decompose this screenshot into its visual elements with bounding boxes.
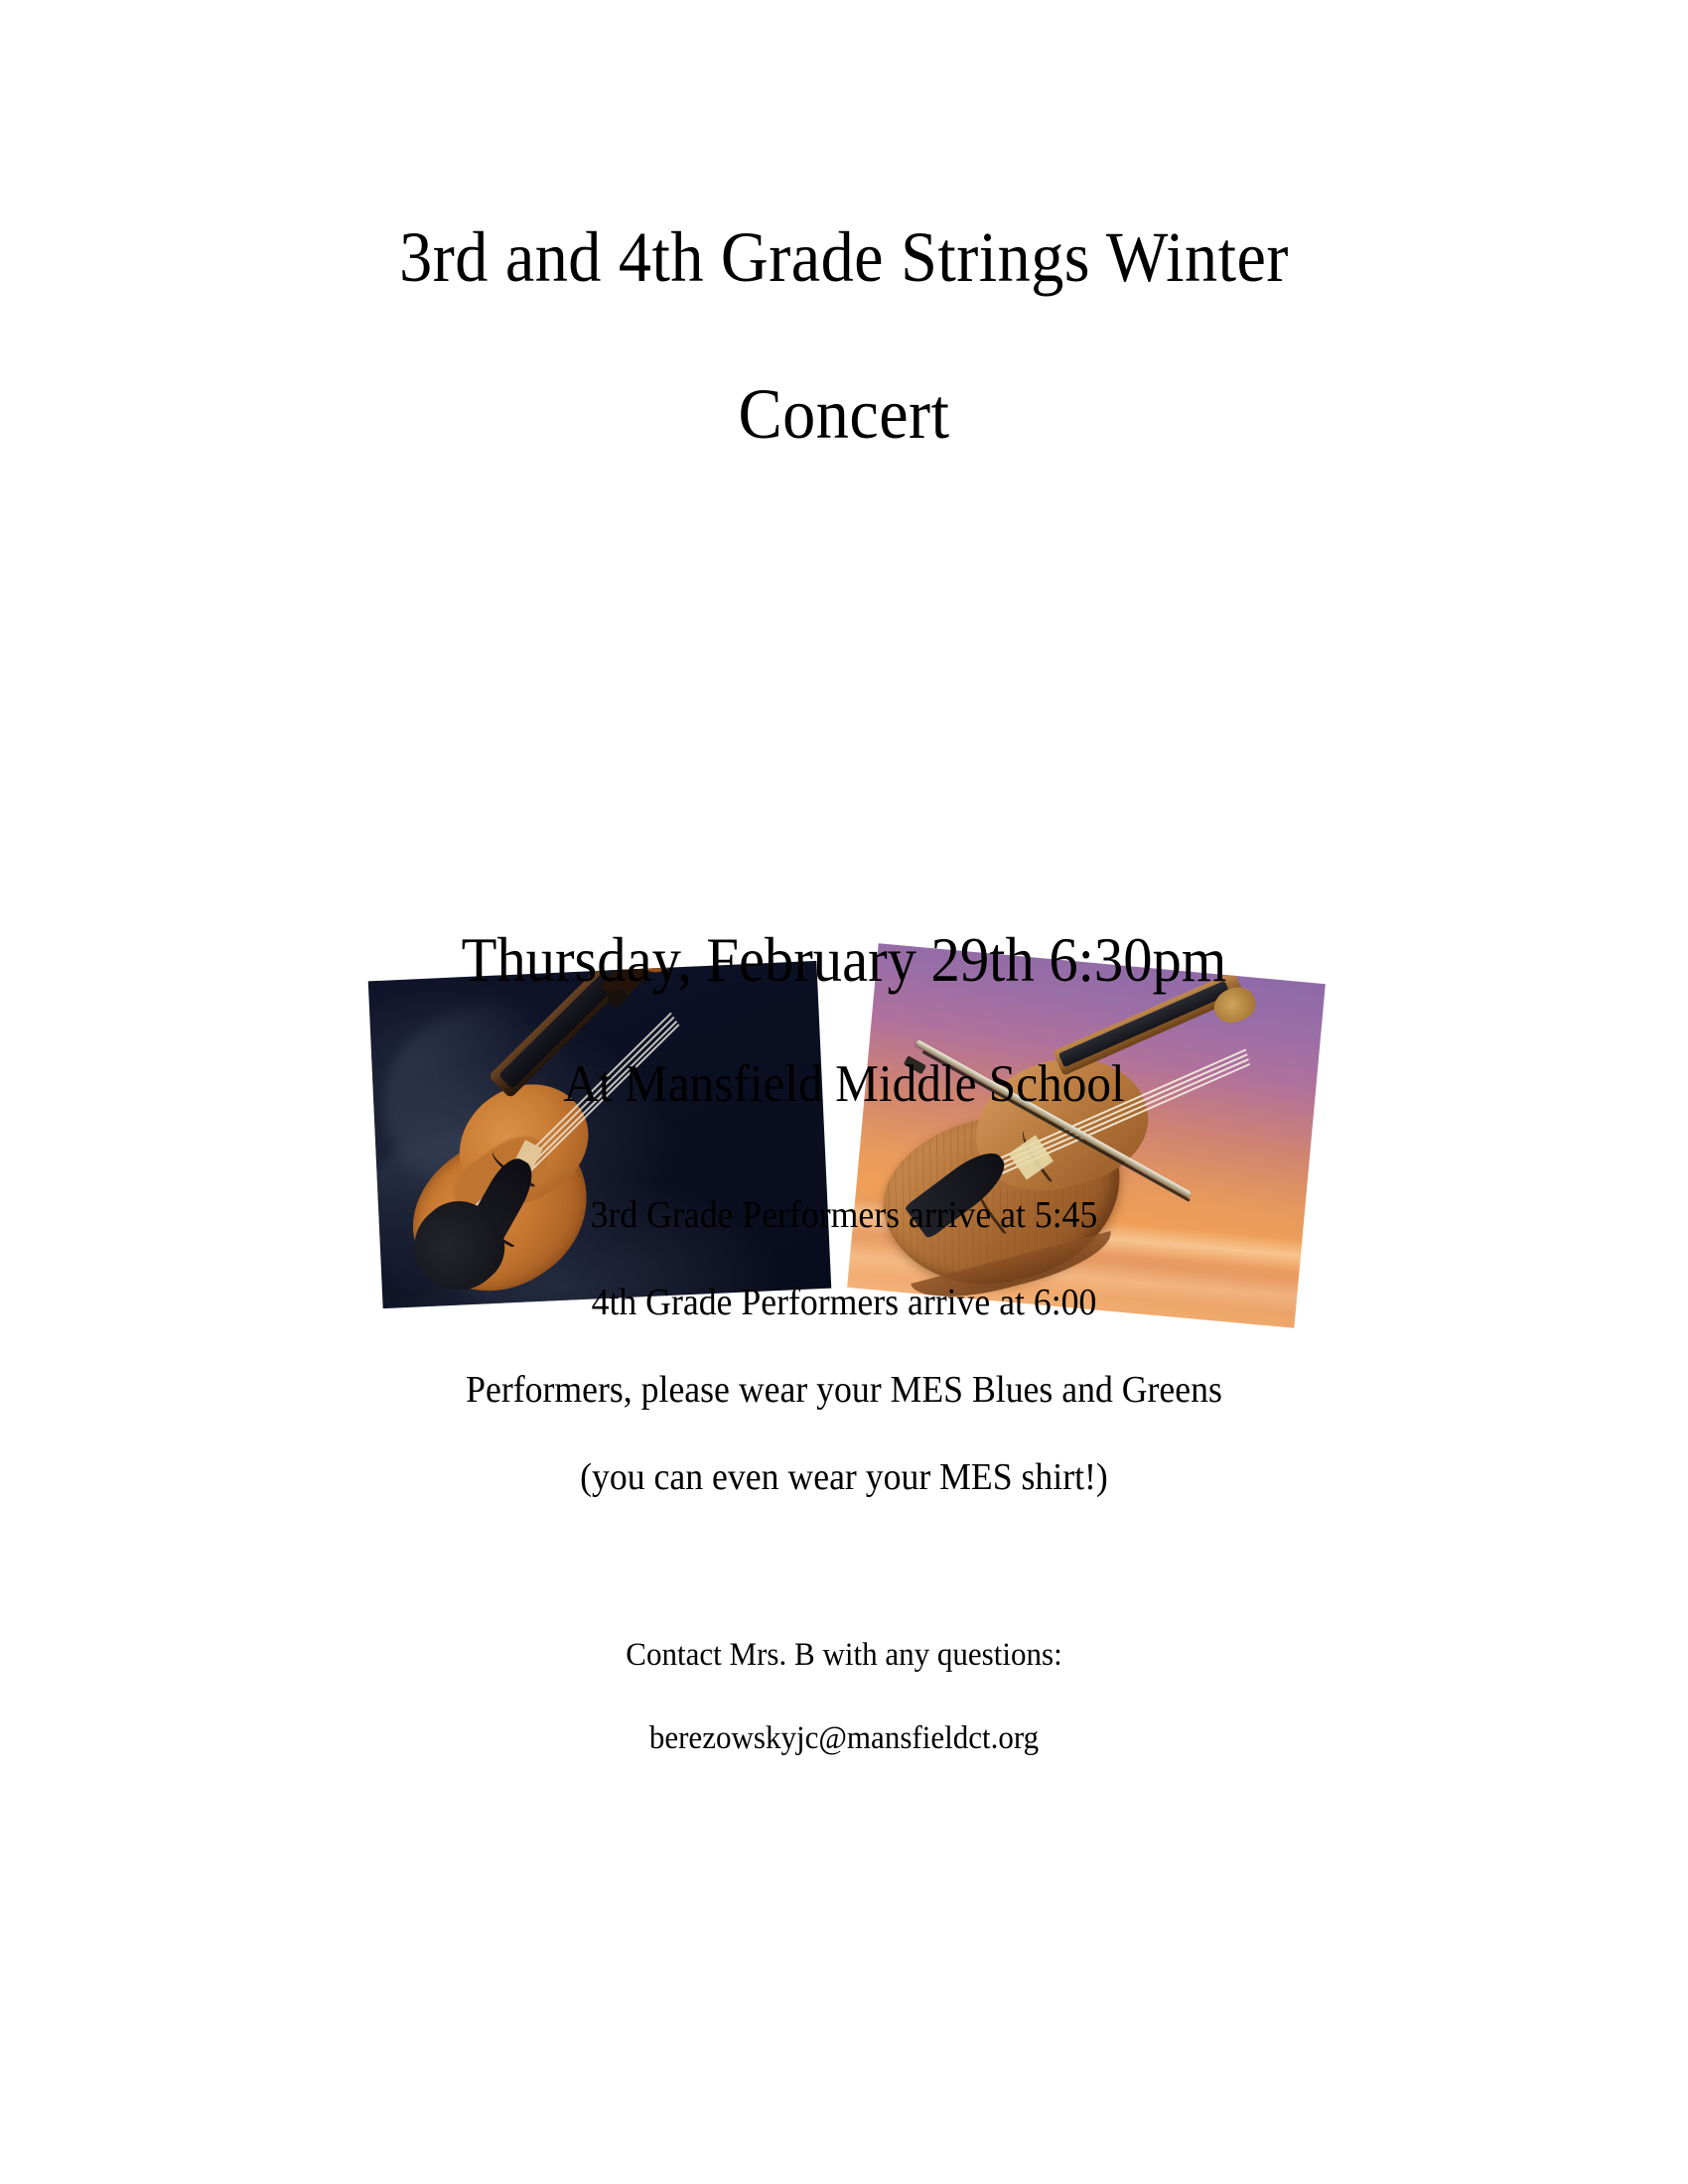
contact-block: Contact Mrs. B with any questions: berez… (0, 1613, 1688, 1780)
title-line-1: 3rd and 4th Grade Strings Winter (68, 179, 1620, 336)
detail-line-4th-grade-arrival: 4th Grade Performers arrive at 6:00 (51, 1259, 1637, 1346)
detail-line-3rd-grade-arrival: 3rd Grade Performers arrive at 5:45 (51, 1171, 1637, 1259)
detail-line-dress-code: Performers, please wear your MES Blues a… (51, 1346, 1637, 1433)
image-row (0, 467, 1688, 884)
event-venue: At Mansfield Middle School (60, 1047, 1629, 1121)
contact-email[interactable]: berezowskyjc@mansfieldct.org (51, 1697, 1637, 1780)
event-datetime: Thursday, February 29th 6:30pm (60, 918, 1629, 1002)
event-details: 3rd Grade Performers arrive at 5:45 4th … (0, 1171, 1688, 1521)
detail-line-dress-code-note: (you can even wear your MES shirt!) (51, 1433, 1637, 1521)
flyer-page: 3rd and 4th Grade Strings Winter Concert (0, 0, 1688, 2184)
contact-prompt: Contact Mrs. B with any questions: (51, 1613, 1637, 1697)
page-title: 3rd and 4th Grade Strings Winter Concert (0, 179, 1688, 492)
